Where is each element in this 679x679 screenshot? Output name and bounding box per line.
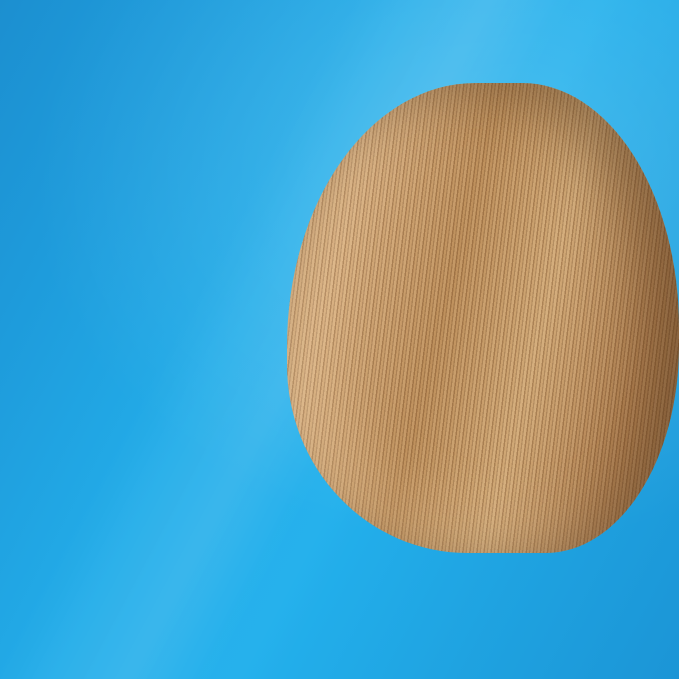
whisker bbox=[161, 79, 260, 94]
hair-strands bbox=[459, 379, 679, 679]
whisker bbox=[160, 79, 301, 88]
promo-banner: POWERFUL PET-FRIENDLY FORMULA bbox=[0, 0, 679, 679]
lifestyle-photo bbox=[159, 79, 679, 679]
whisker bbox=[159, 79, 295, 83]
whisker bbox=[162, 79, 284, 98]
whisker bbox=[161, 79, 278, 92]
whisker bbox=[165, 79, 248, 103]
